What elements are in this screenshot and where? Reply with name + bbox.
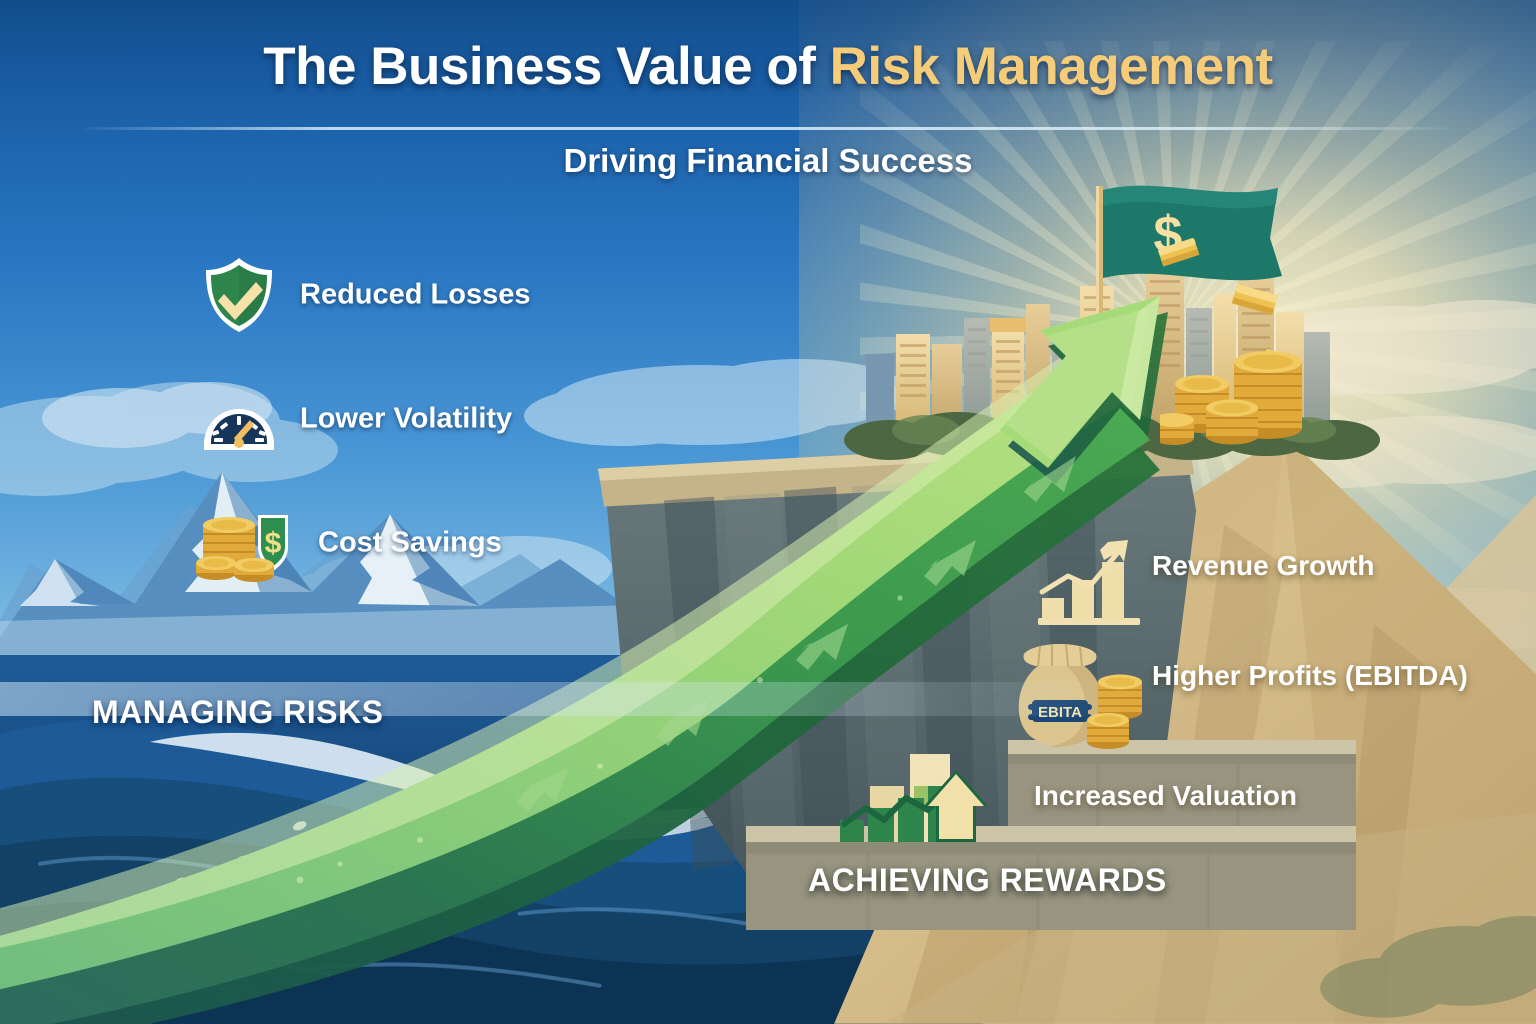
list-item[interactable]: Lower Volatility (196, 376, 626, 462)
title-divider (85, 127, 1448, 130)
list-item[interactable]: $ (196, 500, 626, 586)
list-item[interactable]: Reduced Losses (196, 252, 626, 338)
managing-risks-list: Reduced Losses Lower Volatility (196, 252, 626, 624)
svg-text:$: $ (265, 527, 282, 560)
page-title: The Business Value of Risk Management (0, 36, 1536, 97)
shield-check-icon (196, 252, 282, 338)
infographic-canvas: $ (0, 0, 1536, 1024)
reward-label-increased-valuation: Increased Valuation (1034, 780, 1297, 812)
reward-label-revenue-growth: Revenue Growth (1152, 550, 1374, 582)
coins-dollar-shield-icon: $ (196, 500, 298, 586)
page-subtitle: Driving Financial Success (0, 142, 1536, 180)
page-title-accent: Risk Management (830, 37, 1273, 96)
band-label-managing-risks: MANAGING RISKS (92, 694, 383, 731)
list-item-label: Lower Volatility (300, 403, 512, 436)
bar-chart-arrow-up-icon (836, 736, 996, 852)
speedometer-icon (196, 376, 282, 462)
band-label-achieving-rewards: ACHIEVING REWARDS (808, 862, 1167, 899)
list-item-label: Cost Savings (318, 527, 502, 560)
list-item-label: Reduced Losses (300, 279, 530, 312)
bar-chart-growth-icon (1034, 536, 1144, 636)
page-title-main: The Business Value of (263, 37, 829, 96)
